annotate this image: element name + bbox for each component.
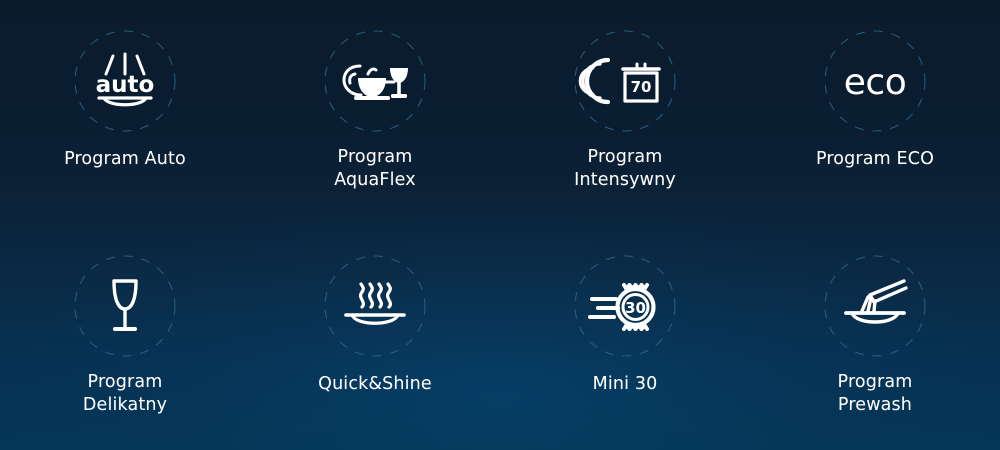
program-tile-prewash[interactable]: Program Prewash [750,225,1000,450]
program-tile-aquaflex[interactable]: Program AquaFlex [250,0,500,225]
icon-ring-wrapper [322,253,428,359]
heat-waves-pot-icon: 70 [588,49,662,113]
program-tile-intensywny[interactable]: 70 Program Intensywny [500,0,750,225]
program-tile-eco[interactable]: eco Program ECO [750,0,1000,225]
auto-label-glyph: auto [96,72,155,98]
pot-cup-glass-icon [338,49,412,113]
icon-ring-wrapper [322,28,428,134]
icon-ring-wrapper [822,253,928,359]
minutes-glyph: 30 [625,299,646,317]
program-tile-quick-and-shine[interactable]: Quick&Shine [250,225,500,450]
speed-timer-30-icon: 30 [588,274,662,338]
program-label: Mini 30 [593,373,658,396]
eco-label-glyph: eco [844,62,906,103]
program-tile-delikatny[interactable]: Program Delikatny [0,225,250,450]
temperature-glyph: 70 [631,78,652,96]
icon-ring-wrapper [72,253,178,359]
program-tile-auto[interactable]: auto Program Auto [0,0,250,225]
auto-spray-plate-icon: auto [88,49,162,113]
icon-ring-wrapper: auto [72,28,178,134]
program-icons-panel: auto Program Auto [0,0,1000,450]
icon-ring-wrapper: 30 [572,253,678,359]
brush-plate-icon [838,274,912,338]
program-label: Quick&Shine [318,373,432,396]
program-grid: auto Program Auto [0,0,1000,450]
program-label: Program Prewash [838,371,913,418]
eco-text-icon: eco [838,49,912,113]
program-label: Program Intensywny [574,146,676,193]
program-tile-mini-30[interactable]: 30 Mini 30 [500,225,750,450]
icon-ring-wrapper: 70 [572,28,678,134]
program-label: Program AquaFlex [334,146,416,193]
steaming-plate-icon [338,274,412,338]
program-label: Program Auto [64,148,186,171]
wine-glass-icon [88,274,162,338]
icon-ring-wrapper: eco [822,28,928,134]
program-label: Program ECO [816,148,934,171]
program-label: Program Delikatny [83,371,167,418]
